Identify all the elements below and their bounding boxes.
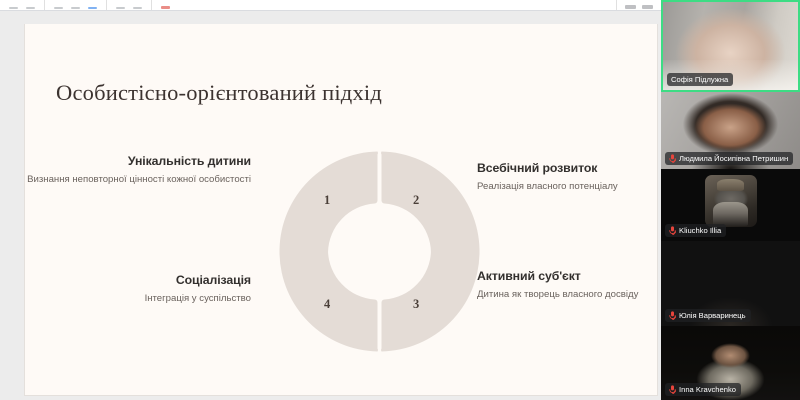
slide-surface[interactable]: Особистісно-орієнтований підхід Унікальн… [24, 24, 658, 396]
donut-segment-label-4: 4 [324, 297, 330, 312]
participant-tile[interactable]: Юлія Варваринець [661, 241, 800, 326]
callout-body: Визнання неповторної цінності кожної осо… [25, 173, 251, 187]
participant-name-chip: Юлія Варваринець [665, 309, 751, 322]
participant-name-chip: Людмила Йосипівна Петришин [665, 152, 793, 165]
donut-segment-3 [381, 248, 479, 352]
participant-name: Inna Kravchenko [679, 386, 736, 394]
participant-name-chip: Kliuchko Illia [665, 224, 726, 237]
slide-title[interactable]: Особистісно-орієнтований підхід [56, 80, 382, 106]
mic-muted-icon [669, 226, 676, 235]
donut-diagram[interactable]: 1 2 3 4 [277, 149, 482, 354]
callout-heading: Унікальність дитини [25, 154, 251, 169]
callout-sotsializatsiia[interactable]: Соціалізація Інтеграція у суспільство [25, 273, 251, 307]
donut-segment-2 [381, 152, 479, 256]
participant-avatar [705, 175, 757, 227]
text-underline-icon[interactable] [87, 0, 98, 10]
callout-body: Дитина як творець власного досвіду [477, 288, 652, 302]
participant-name-chip: Inna Kravchenko [665, 383, 741, 396]
callout-body: Реалізація власного потенціалу [477, 180, 658, 194]
callout-heading: Всебічний розвиток [477, 161, 658, 176]
video-participant-rail[interactable]: Софія Підлужна Людмила Йосипівна Петриши… [661, 0, 800, 400]
callout-heading: Активний суб'єкт [477, 269, 652, 284]
participant-name: Юлія Варваринець [679, 312, 746, 320]
toolbar-group-paragraph [44, 0, 106, 10]
text-color-icon[interactable] [160, 0, 171, 10]
callout-unikalnist-dytyny[interactable]: Унікальність дитини Визнання неповторної… [25, 154, 251, 188]
image-icon[interactable] [115, 0, 126, 10]
mic-muted-icon [669, 154, 676, 163]
toolbar-group-view [616, 0, 661, 10]
participant-name: Людмила Йосипівна Петришин [679, 155, 788, 163]
participant-tile[interactable]: Inna Kravchenko [661, 326, 800, 400]
editor-canvas: Особистісно-орієнтований підхід Унікальн… [0, 11, 661, 400]
participant-tile[interactable]: Людмила Йосипівна Петришин [661, 92, 800, 169]
callout-body: Інтеграція у суспільство [25, 292, 251, 306]
donut-graphic [277, 149, 482, 354]
callout-vsebichnyi-rozvytok[interactable]: Всебічний розвиток Реалізація власного п… [477, 161, 658, 195]
editor-toolbar[interactable] [0, 0, 661, 11]
layout-icon[interactable] [642, 0, 653, 10]
callout-heading: Соціалізація [25, 273, 251, 288]
format-icon[interactable] [8, 0, 19, 10]
participant-tile[interactable]: Софія Підлужна [661, 0, 800, 92]
mic-muted-icon [669, 385, 676, 394]
align-icon[interactable] [53, 0, 64, 10]
participant-name: Софія Підлужна [671, 76, 728, 84]
list-icon[interactable] [25, 0, 36, 10]
toolbar-group-format [0, 0, 44, 10]
donut-segment-label-3: 3 [413, 297, 419, 312]
donut-segment-label-2: 2 [413, 193, 419, 208]
donut-segment-label-1: 1 [324, 193, 330, 208]
participant-tile[interactable]: Kliuchko Illia [661, 169, 800, 241]
mic-muted-icon [669, 311, 676, 320]
shape-icon[interactable] [132, 0, 143, 10]
toolbar-group-insert [106, 0, 151, 10]
minimize-icon[interactable] [625, 0, 636, 10]
participant-name: Kliuchko Illia [679, 227, 721, 235]
line-spacing-icon[interactable] [70, 0, 81, 10]
callout-aktyvnyi-subiekt[interactable]: Активний суб'єкт Дитина як творець власн… [477, 269, 652, 303]
app-root: Особистісно-орієнтований підхід Унікальн… [0, 0, 800, 400]
participant-name-chip: Софія Підлужна [667, 73, 733, 86]
toolbar-group-color [151, 0, 179, 10]
